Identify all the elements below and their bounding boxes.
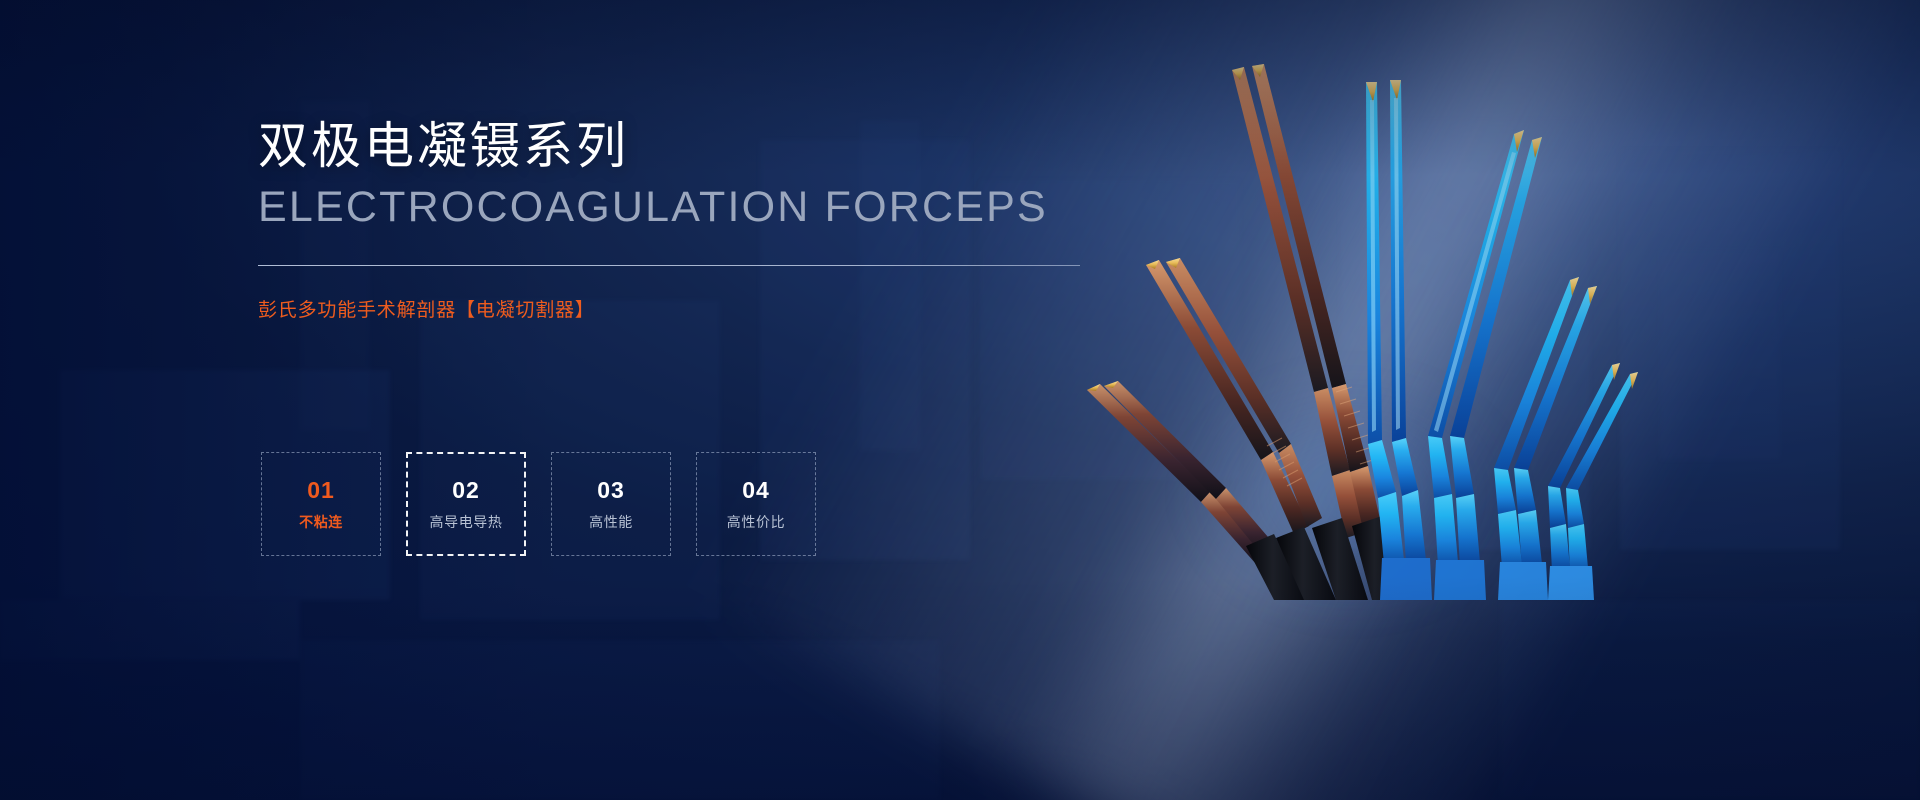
feature-card-03[interactable]: 03 高性能 (551, 452, 671, 556)
feature-number: 02 (452, 479, 480, 502)
feature-label: 不粘连 (299, 516, 343, 530)
feature-number: 03 (597, 479, 625, 502)
page-title: 双极电凝镊系列 (258, 118, 1158, 175)
page-subtitle: ELECTROCOAGULATION FORCEPS (258, 183, 1158, 231)
divider (258, 265, 1080, 266)
feature-card-01[interactable]: 01 不粘连 (261, 452, 381, 556)
feature-card-04[interactable]: 04 高性价比 (696, 452, 816, 556)
feature-label: 高导电导热 (430, 516, 503, 530)
product-banner: 双极电凝镊系列 ELECTROCOAGULATION FORCEPS 彭氏多功能… (0, 0, 1920, 800)
feature-label: 高性价比 (727, 516, 785, 530)
feature-number: 01 (307, 479, 335, 502)
feature-card-02[interactable]: 02 高导电导热 (406, 452, 526, 556)
tagline: 彭氏多功能手术解剖器【电凝切割器】 (258, 295, 1158, 322)
blue-forceps-group (1366, 80, 1638, 600)
forceps-handles (1246, 516, 1402, 600)
feature-number: 04 (742, 479, 770, 502)
feature-label: 高性能 (589, 516, 633, 530)
feature-list: 01 不粘连 02 高导电导热 03 高性能 04 高性价比 (261, 452, 841, 556)
banner-content: 双极电凝镊系列 ELECTROCOAGULATION FORCEPS 彭氏多功能… (258, 118, 1158, 322)
